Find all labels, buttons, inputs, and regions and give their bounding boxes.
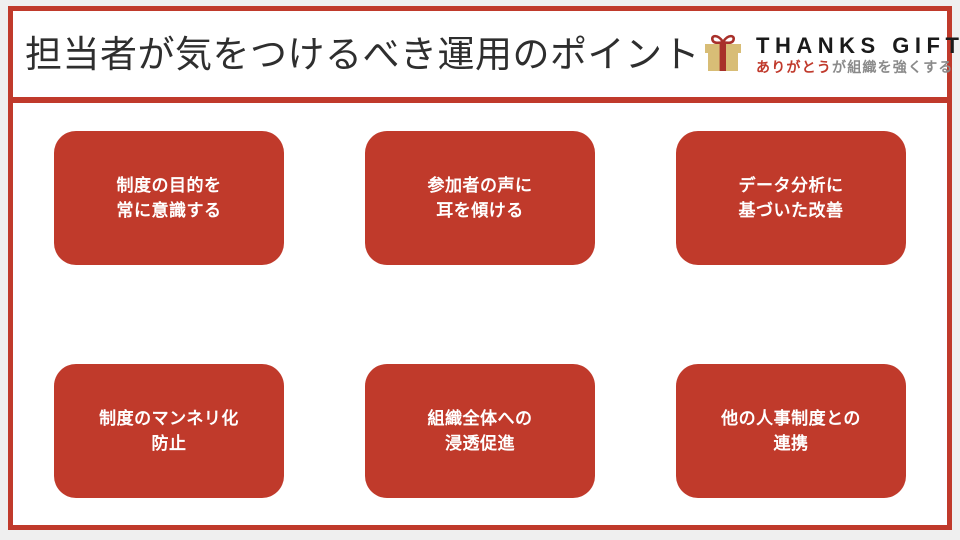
point-card-label: 組織全体への 浸透促進 [428, 406, 533, 456]
points-grid: 制度の目的を 常に意識する 参加者の声に 耳を傾ける データ分析に 基づいた改善… [13, 103, 947, 498]
point-card-3[interactable]: データ分析に 基づいた改善 [676, 131, 906, 265]
gift-box-icon [700, 31, 746, 77]
point-card-5[interactable]: 組織全体への 浸透促進 [365, 364, 595, 498]
brand-logo: THANKS GIFT ありがとうが組織を強くする [700, 31, 960, 77]
point-card-4[interactable]: 制度のマンネリ化 防止 [54, 364, 284, 498]
point-card-label: 他の人事制度との 連携 [721, 406, 861, 456]
logo-brand-name: THANKS GIFT [756, 35, 960, 57]
logo-tagline-rest: が組織を強くする [832, 59, 954, 75]
slide-header: 担当者が気をつけるべき運用のポイント THANKS GIFT ありがとうが組織を [13, 11, 947, 97]
point-card-6[interactable]: 他の人事制度との 連携 [676, 364, 906, 498]
slide-frame: 担当者が気をつけるべき運用のポイント THANKS GIFT ありがとうが組織を [8, 6, 952, 530]
point-card-label: 制度の目的を 常に意識する [117, 173, 222, 223]
point-card-label: データ分析に 基づいた改善 [739, 173, 844, 223]
logo-tagline-accent: ありがとう [756, 59, 832, 75]
point-card-1[interactable]: 制度の目的を 常に意識する [54, 131, 284, 265]
logo-text-block: THANKS GIFT ありがとうが組織を強くする [756, 35, 960, 74]
logo-tagline: ありがとうが組織を強くする [756, 60, 960, 74]
point-card-2[interactable]: 参加者の声に 耳を傾ける [365, 131, 595, 265]
point-card-label: 参加者の声に 耳を傾ける [428, 173, 533, 223]
page-title: 担当者が気をつけるべき運用のポイント [25, 36, 700, 73]
point-card-label: 制度のマンネリ化 防止 [99, 406, 239, 456]
